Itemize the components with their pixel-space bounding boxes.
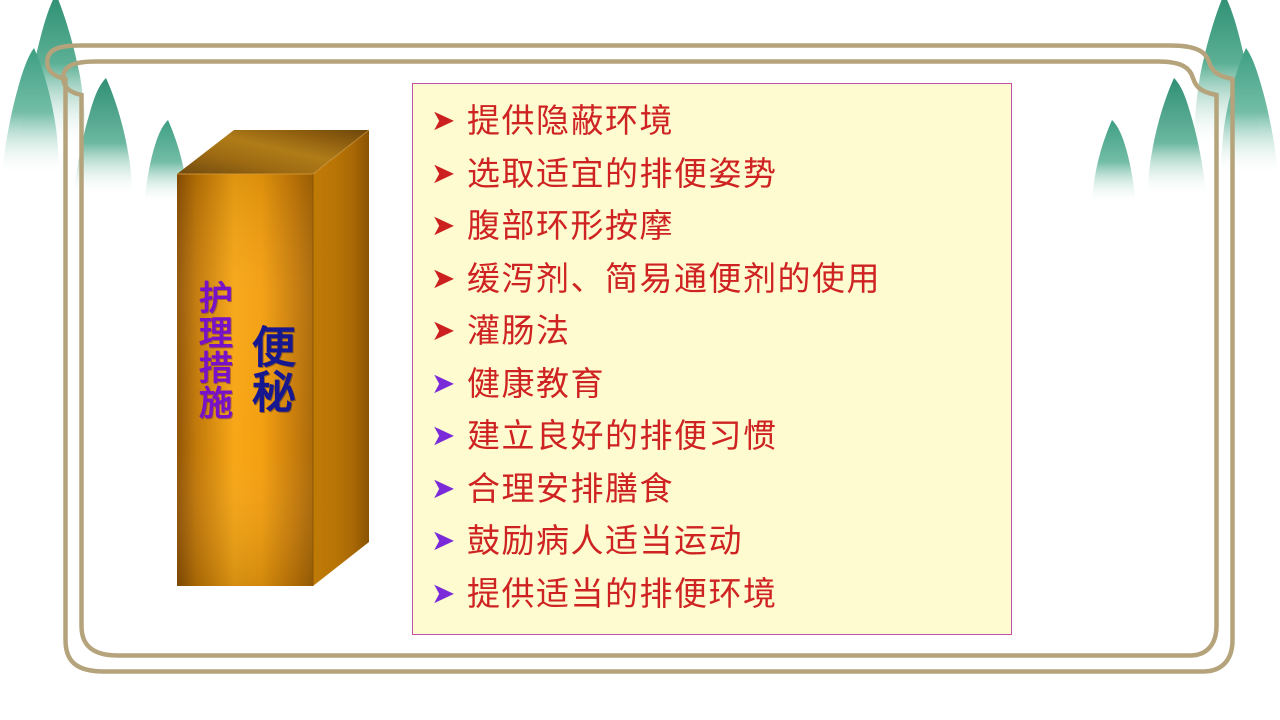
arrow-bullet-icon: ➤ [427,202,467,248]
list-item-label: 鼓励病人适当运动 [467,517,1001,565]
list-item-label: 腹部环形按摩 [467,202,1001,250]
list-item-label: 缓泻剂、简易通便剂的使用 [467,255,1001,303]
list-item-label: 健康教育 [467,360,1001,408]
list-item: ➤ 提供适当的排便环境 [427,570,1001,623]
mountain-decoration-top-left [2,0,188,204]
list-item: ➤ 建立良好的排便习惯 [427,412,1001,465]
arrow-bullet-icon: ➤ [427,360,467,406]
list-item: ➤ 腹部环形按摩 [427,202,1001,255]
nursing-measures-list-box: ➤ 提供隐蔽环境 ➤ 选取适宜的排便姿势 ➤ 腹部环形按摩 ➤ 缓泻剂、简易通便… [412,83,1012,635]
prism-label-nursing-measures: 护理措施 [194,280,229,420]
list-item: ➤ 提供隐蔽环境 [427,97,1001,150]
list-item-label: 选取适宜的排便姿势 [467,150,1001,198]
list-item: ➤ 合理安排膳食 [427,465,1001,518]
list-item-label: 提供隐蔽环境 [467,97,1001,145]
arrow-bullet-icon: ➤ [427,517,467,563]
list-item: ➤ 灌肠法 [427,307,1001,360]
list-item-label: 合理安排膳食 [467,465,1001,513]
list-item-label: 建立良好的排便习惯 [467,412,1001,460]
arrow-bullet-icon: ➤ [427,255,467,301]
prism-side-face [313,130,369,586]
list-item: ➤ 缓泻剂、简易通便剂的使用 [427,255,1001,308]
arrow-bullet-icon: ➤ [427,307,467,353]
mountain-decoration-top-right [1092,0,1278,204]
arrow-bullet-icon: ➤ [427,150,467,196]
three-d-prism: 护理措施 便秘 [172,128,374,590]
arrow-bullet-icon: ➤ [427,97,467,143]
list-item: ➤ 健康教育 [427,360,1001,413]
slide-canvas: 护理措施 便秘 ➤ 提供隐蔽环境 ➤ 选取适宜的排便姿势 ➤ 腹部环形按摩 ➤ … [0,0,1280,720]
arrow-bullet-icon: ➤ [427,412,467,458]
list-item-label: 灌肠法 [467,307,1001,355]
list-item-label: 提供适当的排便环境 [467,570,1001,618]
prism-label-constipation: 便秘 [246,324,292,414]
list-item: ➤ 鼓励病人适当运动 [427,517,1001,570]
arrow-bullet-icon: ➤ [427,570,467,616]
list-item: ➤ 选取适宜的排便姿势 [427,150,1001,203]
arrow-bullet-icon: ➤ [427,465,467,511]
